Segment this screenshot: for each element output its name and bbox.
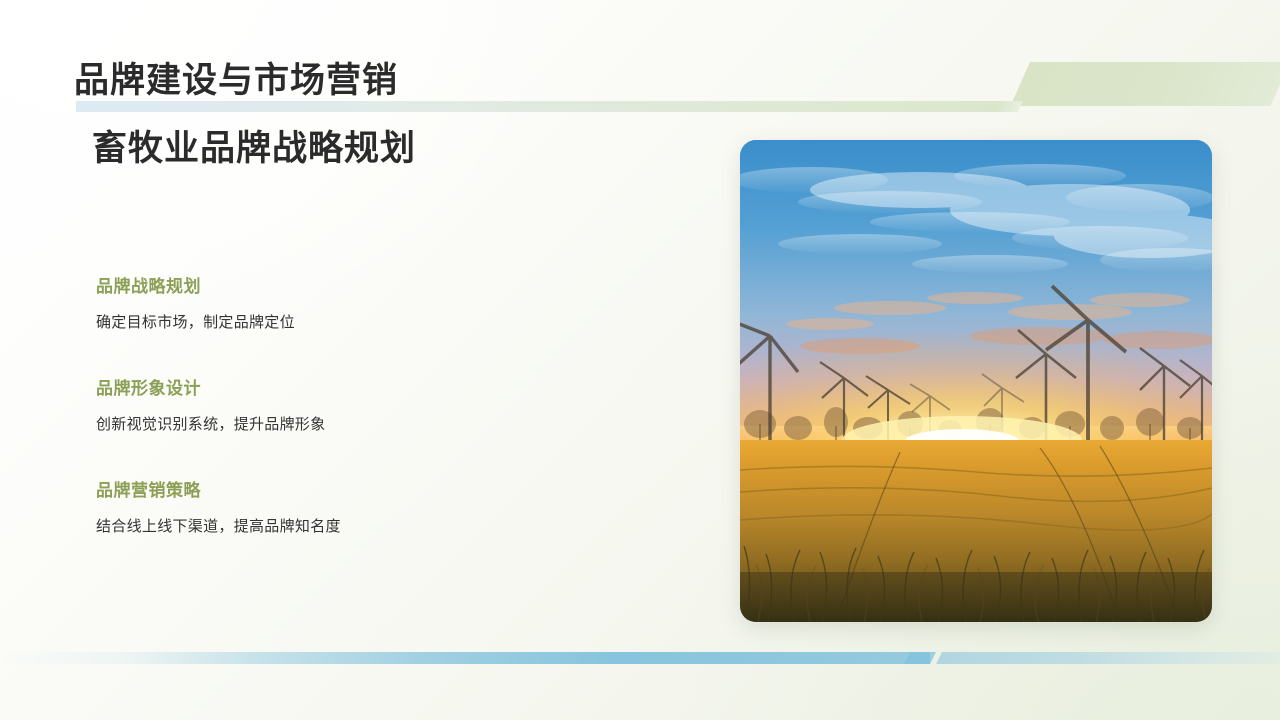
page-subtitle: 畜牧业品牌战略规划 bbox=[92, 120, 416, 171]
point-description: 创新视觉识别系统，提升品牌形象 bbox=[96, 413, 656, 434]
green-parallelogram-band bbox=[1010, 62, 1280, 106]
sunset-wind-farm-photo bbox=[740, 140, 1212, 622]
list-item: 品牌营销策略 结合线上线下渠道，提高品牌知名度 bbox=[96, 476, 656, 536]
list-item: 品牌战略规划 确定目标市场，制定品牌定位 bbox=[96, 272, 656, 332]
points-list: 品牌战略规划 确定目标市场，制定品牌定位 品牌形象设计 创新视觉识别系统，提升品… bbox=[96, 272, 656, 536]
point-title: 品牌营销策略 bbox=[96, 476, 656, 501]
point-description: 结合线上线下渠道，提高品牌知名度 bbox=[96, 515, 656, 536]
page-title: 品牌建设与市场营销 bbox=[74, 52, 398, 103]
point-description: 确定目标市场，制定品牌定位 bbox=[96, 311, 656, 332]
bottom-blue-band-secondary bbox=[936, 652, 1280, 664]
point-title: 品牌形象设计 bbox=[96, 374, 656, 399]
bottom-blue-band bbox=[0, 652, 930, 664]
photo-illustration bbox=[740, 140, 1212, 622]
list-item: 品牌形象设计 创新视觉识别系统，提升品牌形象 bbox=[96, 374, 656, 434]
slide-root: 品牌建设与市场营销 畜牧业品牌战略规划 品牌战略规划 确定目标市场，制定品牌定位… bbox=[0, 0, 1280, 720]
point-title: 品牌战略规划 bbox=[96, 272, 656, 297]
title-divider bbox=[76, 101, 1006, 112]
